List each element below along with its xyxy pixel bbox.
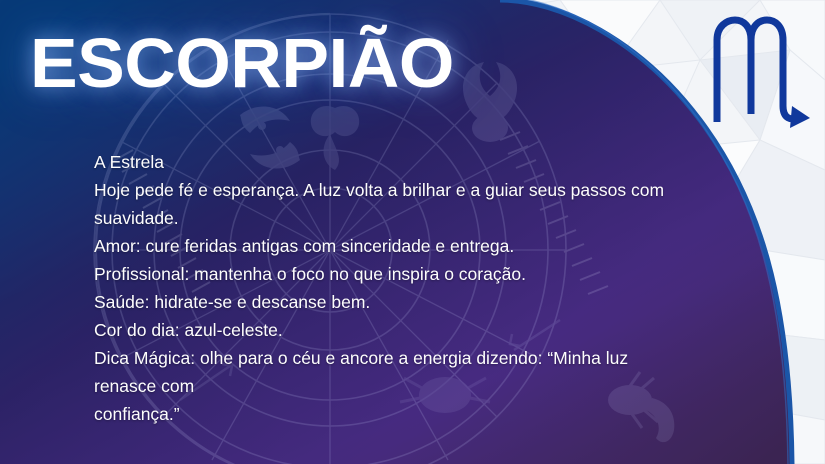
page-title: ESCORPIÃO xyxy=(30,28,454,98)
horoscope-line-cor-do-dia: Cor do dia: azul-celeste. xyxy=(94,316,694,344)
horoscope-line-profissional: Profissional: mantenha o foco no que ins… xyxy=(94,260,694,288)
horoscope-line-saude: Saúde: hidrate-se e descanse bem. xyxy=(94,288,694,316)
horoscope-card: ESCORPIÃO A Estrela Hoje pede fé e esper… xyxy=(0,0,825,464)
scorpio-zodiac-glyph xyxy=(706,10,816,128)
horoscope-text: A Estrela Hoje pede fé e esperança. A lu… xyxy=(94,148,694,428)
horoscope-line-resumo: Hoje pede fé e esperança. A luz volta a … xyxy=(94,176,694,232)
horoscope-line-confianca: confiança.” xyxy=(94,400,694,428)
horoscope-line-dica-magica: Dica Mágica: olhe para o céu e ancore a … xyxy=(94,344,694,400)
horoscope-line-amor: Amor: cure feridas antigas com sincerida… xyxy=(94,232,694,260)
horoscope-line-estrela: A Estrela xyxy=(94,148,694,176)
